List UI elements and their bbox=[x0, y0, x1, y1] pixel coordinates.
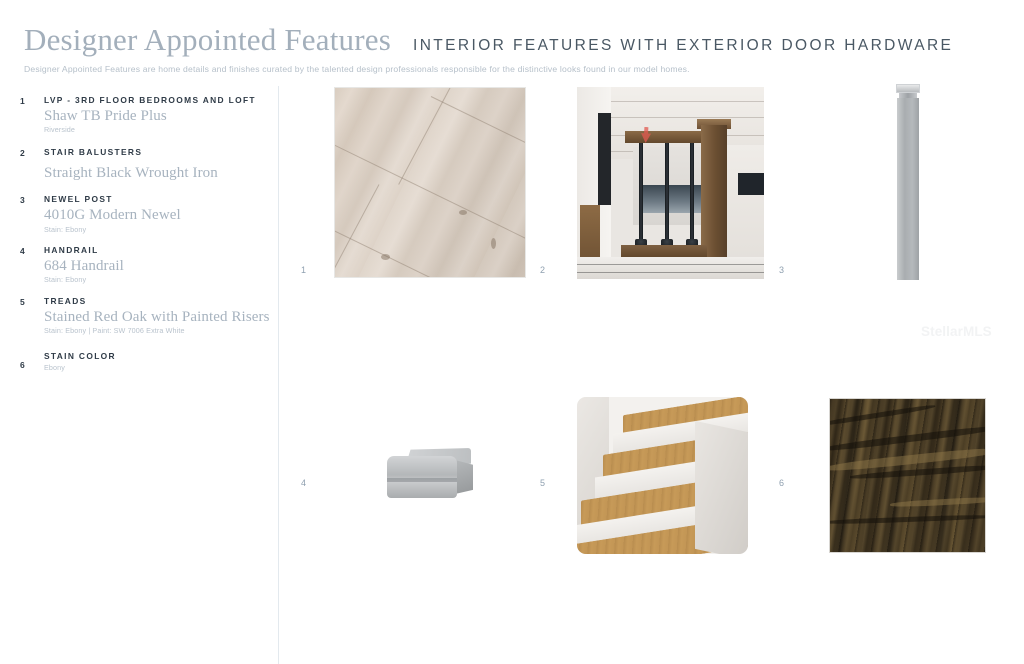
page-root: Designer Appointed Features INTERIOR FEA… bbox=[0, 0, 1024, 664]
photo-lvp-flooring[interactable] bbox=[334, 87, 526, 278]
legend-category: NEWEL POST bbox=[44, 194, 270, 205]
legend-number: 3 bbox=[20, 195, 25, 205]
gallery-label-4: 4 bbox=[301, 478, 306, 488]
legend-number: 5 bbox=[20, 297, 25, 307]
legend-item-4[interactable]: 4 HANDRAIL 684 Handrail Stain: Ebony bbox=[18, 245, 270, 285]
legend-list: 1 LVP - 3RD FLOOR BEDROOMS AND LOFT Shaw… bbox=[18, 95, 270, 381]
legend-number: 6 bbox=[20, 360, 25, 370]
legend-product-name: Stained Red Oak with Painted Risers bbox=[44, 309, 270, 326]
legend-category: HANDRAIL bbox=[44, 245, 270, 256]
legend-item-2[interactable]: 2 STAIR BALUSTERS Straight Black Wrought… bbox=[18, 147, 270, 182]
page-subtitle: INTERIOR FEATURES WITH EXTERIOR DOOR HAR… bbox=[413, 38, 953, 54]
legend-item-3[interactable]: 3 NEWEL POST 4010G Modern Newel Stain: E… bbox=[18, 194, 270, 234]
photo-handrail-profile[interactable] bbox=[385, 448, 475, 502]
legend-note: Stain: Ebony bbox=[44, 276, 270, 285]
legend-product-name: 684 Handrail bbox=[44, 258, 270, 275]
gallery-label-2: 2 bbox=[540, 265, 545, 275]
legend-item-6[interactable]: 6 STAIN COLOR Ebony bbox=[18, 351, 270, 372]
gallery-label-6: 6 bbox=[779, 478, 784, 488]
legend-category: STAIR BALUSTERS bbox=[44, 147, 270, 158]
photo-newel-post[interactable] bbox=[896, 84, 920, 280]
gallery-label-3: 3 bbox=[779, 265, 784, 275]
legend-item-5[interactable]: 5 TREADS Stained Red Oak with Painted Ri… bbox=[18, 296, 270, 336]
legend-item-1[interactable]: 1 LVP - 3RD FLOOR BEDROOMS AND LOFT Shaw… bbox=[18, 95, 270, 135]
page-title: Designer Appointed Features bbox=[24, 24, 391, 57]
legend-category: LVP - 3RD FLOOR BEDROOMS AND LOFT bbox=[44, 95, 270, 106]
legend-number: 2 bbox=[20, 148, 25, 158]
watermark-stellarmls: StellarMLS bbox=[921, 324, 992, 339]
legend-note: Stain: Ebony bbox=[44, 226, 270, 235]
vertical-divider bbox=[278, 86, 279, 664]
gallery-label-1: 1 bbox=[301, 265, 306, 275]
legend-category: TREADS bbox=[44, 296, 270, 307]
legend-product-name: Shaw TB Pride Plus bbox=[44, 108, 270, 125]
photo-stair-balusters[interactable] bbox=[577, 87, 764, 279]
legend-note: Ebony bbox=[44, 364, 270, 373]
legend-category: STAIN COLOR bbox=[44, 351, 270, 362]
legend-number: 4 bbox=[20, 246, 25, 256]
gallery-label-5: 5 bbox=[540, 478, 545, 488]
photo-ebony-stain-swatch[interactable] bbox=[829, 398, 986, 553]
legend-product-name: 4010G Modern Newel bbox=[44, 207, 270, 224]
legend-product-name: Straight Black Wrought Iron bbox=[44, 165, 270, 182]
header-title-line: Designer Appointed Features INTERIOR FEA… bbox=[24, 24, 924, 57]
legend-note: Riverside bbox=[44, 126, 270, 135]
legend-note: Stain: Ebony | Paint: SW 7006 Extra Whit… bbox=[44, 327, 270, 336]
photo-stair-treads[interactable] bbox=[577, 397, 748, 554]
legend-number: 1 bbox=[20, 96, 25, 106]
header-description: Designer Appointed Features are home det… bbox=[24, 64, 924, 74]
page-header: Designer Appointed Features INTERIOR FEA… bbox=[24, 24, 924, 74]
